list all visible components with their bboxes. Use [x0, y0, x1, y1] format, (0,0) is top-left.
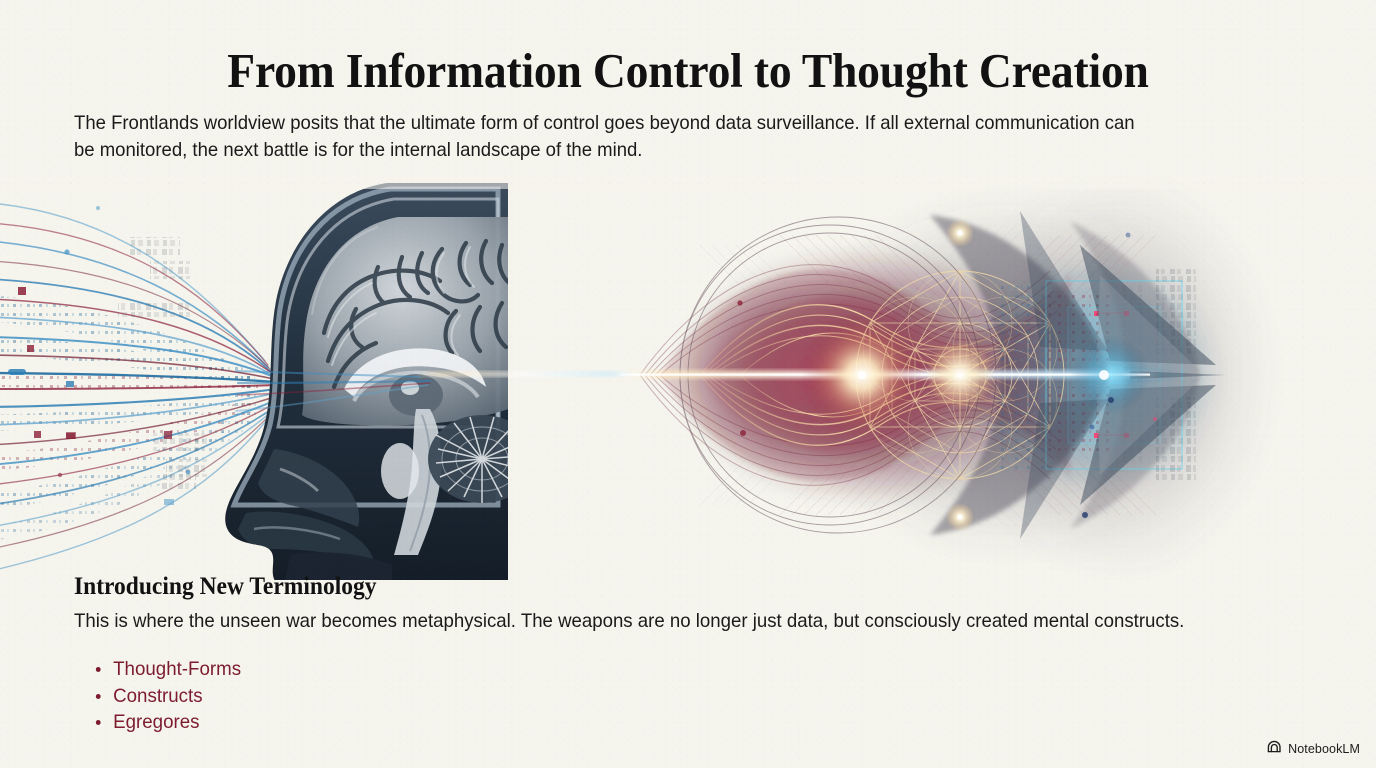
section-body: This is where the unseen war becomes met… [74, 608, 1210, 634]
thought-form-construct [410, 175, 1270, 575]
page-title: From Information Control to Thought Crea… [48, 46, 1328, 97]
list-item: Constructs [92, 683, 241, 710]
slide-subtitle: The Frontlands worldview posits that the… [74, 110, 1140, 164]
terminology-list: Thought-Forms Constructs Egregores [92, 656, 241, 736]
section-heading: Introducing New Terminology [74, 572, 377, 602]
notebooklm-arc-icon [1267, 740, 1282, 758]
notebooklm-wordmark: NotebookLM [1288, 742, 1360, 756]
list-item: Egregores [92, 709, 241, 736]
brain-head-profile [225, 183, 536, 580]
notebooklm-brand: NotebookLM [1267, 740, 1360, 758]
illustration [0, 175, 1376, 580]
list-item: Thought-Forms [92, 656, 241, 683]
